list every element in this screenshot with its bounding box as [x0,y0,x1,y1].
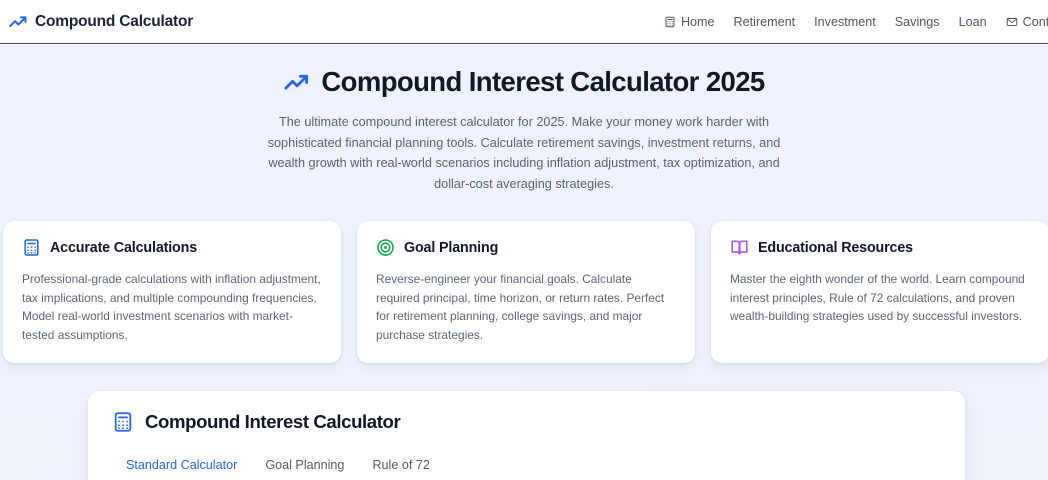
brand-name: Compound Calculator [35,13,193,31]
card-description: Master the eighth wonder of the world. L… [730,270,1030,326]
hero-subtitle: The ultimate compound interest calculato… [264,112,784,194]
panel-header: Compound Interest Calculator [112,411,941,433]
tab-rule-of-72[interactable]: Rule of 72 [358,452,443,480]
nav-item-loan[interactable]: Loan [959,15,987,29]
nav-label: Investment [814,15,876,29]
nav-item-investment[interactable]: Investment [814,15,876,29]
card-title: Educational Resources [758,240,913,256]
nav-item-retirement[interactable]: Retirement [734,15,796,29]
nav-label: Savings [895,15,940,29]
card-title: Goal Planning [404,240,498,256]
nav-label: Contact [1023,15,1048,29]
main-nav: Home Retirement Investment Savings Loan … [664,15,1048,29]
tab-label: Standard Calculator [126,458,237,472]
panel-title: Compound Interest Calculator [145,411,400,433]
card-title: Accurate Calculations [50,240,197,256]
site-header: Compound Calculator Home Retirement [0,0,1048,44]
hero-section: Compound Interest Calculator 2025 The ul… [0,44,1048,194]
card-description: Reverse-engineer your financial goals. C… [376,270,676,344]
trending-up-icon [283,69,310,96]
feature-cards: Accurate Calculations Professional-grade… [0,221,1048,363]
mail-icon [1006,16,1018,28]
trending-up-icon [8,12,28,32]
nav-label: Loan [959,15,987,29]
nav-item-contact[interactable]: Contact [1006,15,1048,29]
target-icon [376,238,395,257]
tab-label: Goal Planning [265,458,344,472]
tab-goal-planning[interactable]: Goal Planning [251,452,358,480]
tab-label: Rule of 72 [372,458,429,472]
calculator-icon [22,238,41,257]
hero-title-row: Compound Interest Calculator 2025 [0,66,1048,98]
tab-standard-calculator[interactable]: Standard Calculator [112,452,251,480]
book-icon [730,238,749,257]
feature-card-goal-planning: Goal Planning Reverse-engineer your fina… [357,221,695,363]
nav-label: Home [681,15,715,29]
nav-item-home[interactable]: Home [664,15,715,29]
calculator-panel: Compound Interest Calculator Standard Ca… [88,391,965,480]
feature-card-accurate-calculations: Accurate Calculations Professional-grade… [3,221,341,363]
card-header: Accurate Calculations [22,238,322,257]
nav-label: Retirement [734,15,796,29]
page-title: Compound Interest Calculator 2025 [321,66,764,98]
nav-item-savings[interactable]: Savings [895,15,940,29]
card-description: Professional-grade calculations with inf… [22,270,322,344]
calculator-icon [664,16,676,28]
brand-logo[interactable]: Compound Calculator [8,12,193,32]
card-header: Educational Resources [730,238,1030,257]
calculator-panel-wrap: Compound Interest Calculator Standard Ca… [0,391,1048,480]
feature-card-educational-resources: Educational Resources Master the eighth … [711,221,1048,363]
calculator-tabs: Standard Calculator Goal Planning Rule o… [106,452,965,480]
calculator-icon [112,411,134,433]
card-header: Goal Planning [376,238,676,257]
